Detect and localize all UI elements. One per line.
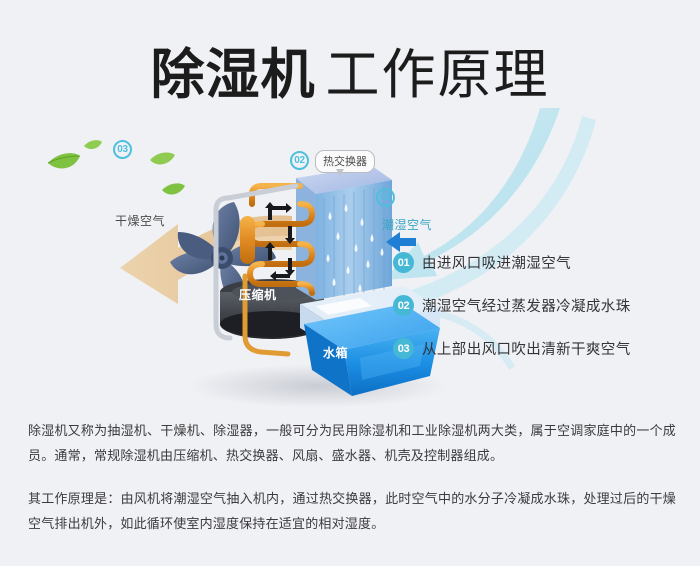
- accumulator: [240, 216, 255, 264]
- compressor-label: 压缩机: [239, 286, 277, 303]
- legend-item: 01 由进风口吸进潮湿空气: [393, 252, 693, 273]
- heat-exchanger-badge: 02: [290, 151, 309, 170]
- legend-badge-03: 03: [393, 338, 414, 359]
- humid-air-badge: 01: [376, 188, 395, 207]
- water-tank-label: 水箱: [323, 344, 348, 361]
- heat-exchanger-callout: 热交换器: [315, 150, 375, 173]
- page-title: 除湿机工作原理: [0, 30, 700, 109]
- legend-item: 03 从上部出风口吹出清新干爽空气: [393, 338, 693, 359]
- title-sub: 工作原理: [326, 45, 550, 105]
- legend-text-01: 由进风口吸进潮湿空气: [422, 252, 571, 273]
- legend-text-03: 从上部出风口吹出清新干爽空气: [422, 338, 631, 359]
- infographic-page: 除湿机工作原理: [0, 0, 700, 566]
- legend-badge-01: 01: [393, 252, 414, 273]
- paragraph-1: 除湿机又称为抽湿机、干燥机、除湿器，一般可分为民用除湿机和工业除湿机两大类，属于…: [28, 418, 676, 468]
- legend-list: 01 由进风口吸进潮湿空气 02 潮湿空气经过蒸发器冷凝成水珠 03 从上部出风…: [393, 252, 693, 381]
- legend-item: 02 潮湿空气经过蒸发器冷凝成水珠: [393, 295, 693, 316]
- heat-exchanger-callout-tail: [336, 169, 344, 176]
- title-main: 除湿机: [151, 45, 316, 105]
- humid-air-label: 潮湿空气: [382, 216, 432, 233]
- paragraph-2: 其工作原理是：由风机将潮湿空气抽入机内，通过热交换器，此时空气中的水分子冷凝成水…: [28, 486, 676, 536]
- dry-air-badge: 03: [113, 140, 132, 159]
- dry-air-label: 干燥空气: [115, 212, 165, 229]
- legend-badge-02: 02: [393, 295, 414, 316]
- description-block: 除湿机又称为抽湿机、干燥机、除湿器，一般可分为民用除湿机和工业除湿机两大类，属于…: [28, 418, 676, 536]
- legend-text-02: 潮湿空气经过蒸发器冷凝成水珠: [422, 295, 631, 316]
